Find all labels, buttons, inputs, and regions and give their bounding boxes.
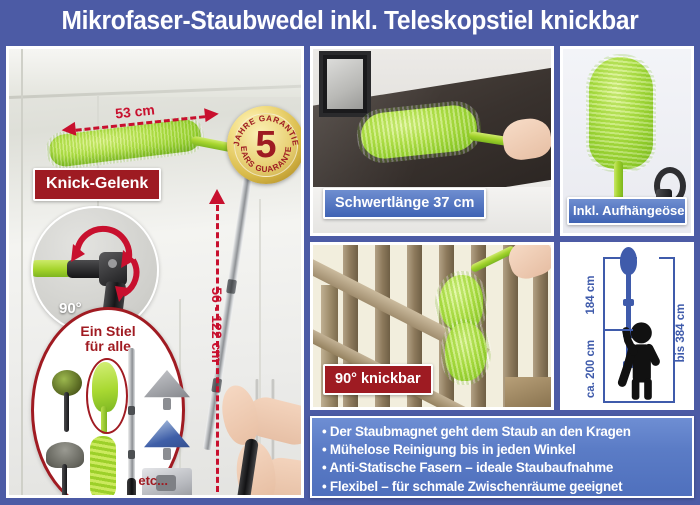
features-bullet-box: Der Staubmagnet geht dem Staub an den Kr…	[310, 416, 694, 498]
tool-connector	[163, 448, 171, 460]
measure-pole-length: 56 - 122 cm	[205, 189, 231, 498]
tool-connector	[163, 398, 171, 410]
bracket-384-bottom	[659, 401, 675, 403]
person-figure-icon	[563, 245, 691, 405]
picture-frame	[319, 51, 371, 117]
tool-pole-grip	[127, 478, 136, 498]
stair-step	[505, 377, 551, 407]
schwertlaenge-label: Schwertlänge 37 cm	[323, 188, 486, 219]
tool-handle	[62, 464, 67, 498]
bracket-184-bottom	[603, 329, 633, 331]
panel-product-eyelet: Inkl. Aufhängeöse	[560, 46, 694, 236]
panel-sideboard-demo: Schwertlänge 37 cm	[310, 46, 554, 236]
duster-fibers	[359, 103, 479, 161]
wall-line-1	[21, 49, 23, 495]
feature-item: Mühelose Reinigung bis in jeden Winkel	[322, 441, 684, 459]
panel-stairs-demo: 90° knickbar	[310, 242, 554, 410]
ellipse-title-line1: Ein Stiel	[34, 324, 182, 339]
tool-telescopic-pole	[128, 348, 135, 498]
page-title: Mikrofaser-Staubwedel inkl. Teleskopstie…	[14, 0, 686, 42]
ellipse-title: Ein Stiel für alle	[34, 324, 182, 353]
knick-gelenk-label: Knick-Gelenk	[33, 168, 161, 201]
measure-duster-label: 53 cm	[111, 101, 158, 122]
label-person-reach: ca. 200 cm	[585, 329, 597, 409]
badge-number: 5	[227, 106, 304, 184]
feature-item: Flexibel – für schmale Zwischenräume gee…	[322, 478, 684, 496]
measure-pole-label: 56 - 122 cm	[209, 275, 225, 375]
reach-diagram: 184 cm ca. 200 cm bis 384 cm	[563, 245, 691, 407]
tool-noodle-duster	[90, 436, 116, 498]
ellipse-etc-label: etc...	[138, 473, 168, 488]
bracket-184-top	[603, 257, 637, 259]
arrow-up-icon	[209, 189, 225, 204]
arrow-left-icon	[61, 122, 76, 137]
tool-feather-duster	[46, 442, 84, 498]
aufhaengeoese-label: Inkl. Aufhängeöse	[567, 197, 687, 225]
bracket-384-top	[659, 257, 675, 259]
compatible-tools-ellipse: Ein Stiel für alle	[31, 307, 185, 498]
panel-reach-diagram: 184 cm ca. 200 cm bis 384 cm	[560, 242, 694, 410]
feature-item: Anti-Statische Fasern – ideale Staubaufn…	[322, 459, 684, 477]
knickbar-label: 90° knickbar	[323, 364, 433, 395]
bracket-184-line	[603, 257, 605, 329]
duster-fibers-lower	[445, 323, 487, 381]
highlight-ring	[86, 358, 128, 434]
tool-triangle-mop	[144, 370, 190, 404]
ellipse-title-line2: für alle	[34, 339, 182, 354]
features-list: Der Staubmagnet geht dem Staub an den Kr…	[322, 423, 684, 496]
label-total-reach: bis 384 cm	[675, 293, 687, 373]
tool-round-duster	[50, 370, 84, 432]
arrow-right-icon	[204, 107, 219, 122]
bracket-200-line	[603, 329, 605, 403]
tool-handle	[64, 392, 69, 432]
tool-head	[90, 436, 116, 498]
duster-head-sideboard	[359, 103, 479, 161]
infographic-page: Mikrofaser-Staubwedel inkl. Teleskopstie…	[0, 0, 700, 505]
tool-window-wiper	[144, 420, 190, 454]
label-pole-length: 184 cm	[585, 263, 597, 327]
product-duster-head	[589, 57, 653, 169]
tool-pole-joint-2	[128, 450, 135, 459]
feature-item: Der Staubmagnet geht dem Staub an den Kr…	[322, 423, 684, 441]
guarantee-badge: JAHRE GARANTIE YEARS GUARANTEE 5	[227, 106, 304, 184]
duster-head-stairs	[431, 267, 485, 385]
tool-pole-joint-1	[128, 406, 135, 415]
panel-main-demo: 53 cm 56 - 122 cm JAHRE GARANTIE YEARS G	[6, 46, 304, 498]
